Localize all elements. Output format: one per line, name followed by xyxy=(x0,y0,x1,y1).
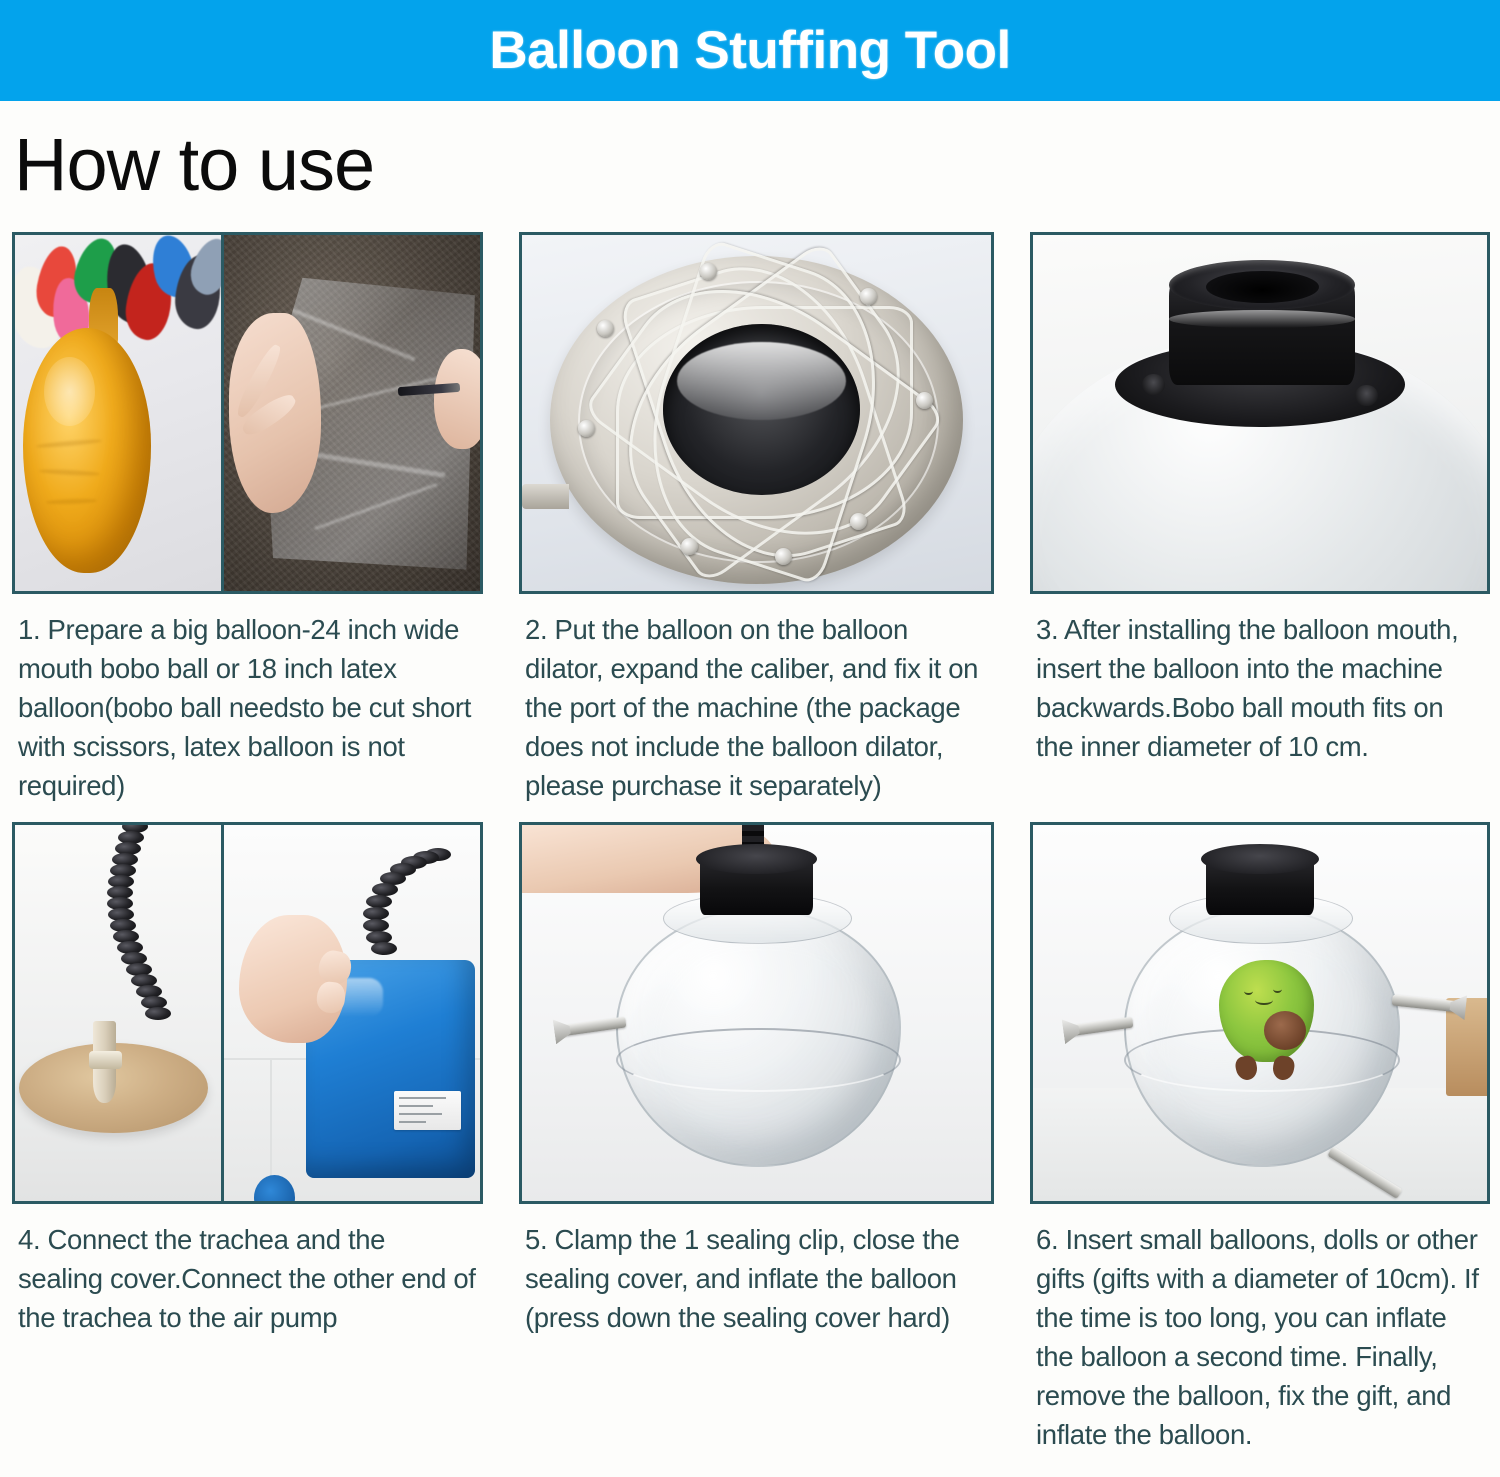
steps-grid: 1. Prepare a big balloon-24 inch wide mo… xyxy=(12,232,1490,1454)
collar-ring-icon xyxy=(1169,310,1355,328)
page-title: Balloon Stuffing Tool xyxy=(489,24,1010,77)
step-5-caption: 5. Clamp the 1 sealing clip, close the s… xyxy=(519,1204,994,1337)
step-2-caption: 2. Put the balloon on the balloon dilato… xyxy=(519,594,994,822)
collar-opening-icon xyxy=(1206,271,1320,303)
step-3-caption: 3. After installing the balloon mouth, i… xyxy=(1030,594,1490,822)
how-to-use-heading: How to use xyxy=(14,128,374,202)
screw-hole-icon xyxy=(1142,374,1165,395)
step-5: 5. Clamp the 1 sealing clip, close the s… xyxy=(519,822,994,1454)
step-4-caption: 4. Connect the trachea and the sealing c… xyxy=(12,1204,483,1337)
sphere-seam-icon xyxy=(616,1028,901,1092)
step-2-photo xyxy=(519,232,994,594)
collar-top-icon xyxy=(1201,844,1319,874)
rivet-icon xyxy=(916,392,933,409)
instruction-page: Balloon Stuffing Tool How to use xyxy=(0,0,1500,1477)
nozzle-collar-icon xyxy=(89,1051,122,1070)
trachea-and-cover-photo xyxy=(15,825,221,1201)
grid-gap xyxy=(483,822,519,1454)
grid-gap xyxy=(483,232,519,822)
left-hand-icon xyxy=(229,313,321,512)
collar-top-icon xyxy=(696,844,818,874)
screw-hole-icon xyxy=(1355,385,1378,406)
step-6-photo xyxy=(1030,822,1490,1204)
step-3-photo xyxy=(1030,232,1490,594)
grid-gap xyxy=(994,822,1030,1454)
step-2: 2. Put the balloon on the balloon dilato… xyxy=(519,232,994,822)
step-1-photo xyxy=(12,232,483,594)
step-1: 1. Prepare a big balloon-24 inch wide mo… xyxy=(12,232,483,822)
right-hand-icon xyxy=(434,349,480,449)
pump-spec-label xyxy=(394,1091,462,1130)
air-pump-photo xyxy=(221,825,480,1201)
rivet-icon xyxy=(860,288,877,305)
hand-icon xyxy=(239,915,347,1043)
trachea-hose-icon xyxy=(36,825,136,1047)
gold-balloon-icon xyxy=(23,328,150,574)
step-3: 3. After installing the balloon mouth, i… xyxy=(1030,232,1490,822)
step-4: 4. Connect the trachea and the sealing c… xyxy=(12,822,483,1454)
page-banner: Balloon Stuffing Tool xyxy=(0,0,1500,101)
step-1-caption: 1. Prepare a big balloon-24 inch wide mo… xyxy=(12,594,483,822)
step-5-photo xyxy=(519,822,994,1204)
cutting-plastic-photo xyxy=(221,235,480,591)
rivet-icon xyxy=(681,538,698,555)
grid-gap xyxy=(994,232,1030,822)
pump-foot-icon xyxy=(254,1175,295,1201)
step-6-caption: 6. Insert small balloons, dolls or other… xyxy=(1030,1204,1490,1454)
step-6: 6. Insert small balloons, dolls or other… xyxy=(1030,822,1490,1454)
step-4-photo xyxy=(12,822,483,1204)
rivet-icon xyxy=(850,513,867,530)
dilator-side-tab-icon xyxy=(522,484,569,509)
wooden-board-edge-icon xyxy=(1446,998,1487,1096)
gold-balloon-photo xyxy=(15,235,221,591)
